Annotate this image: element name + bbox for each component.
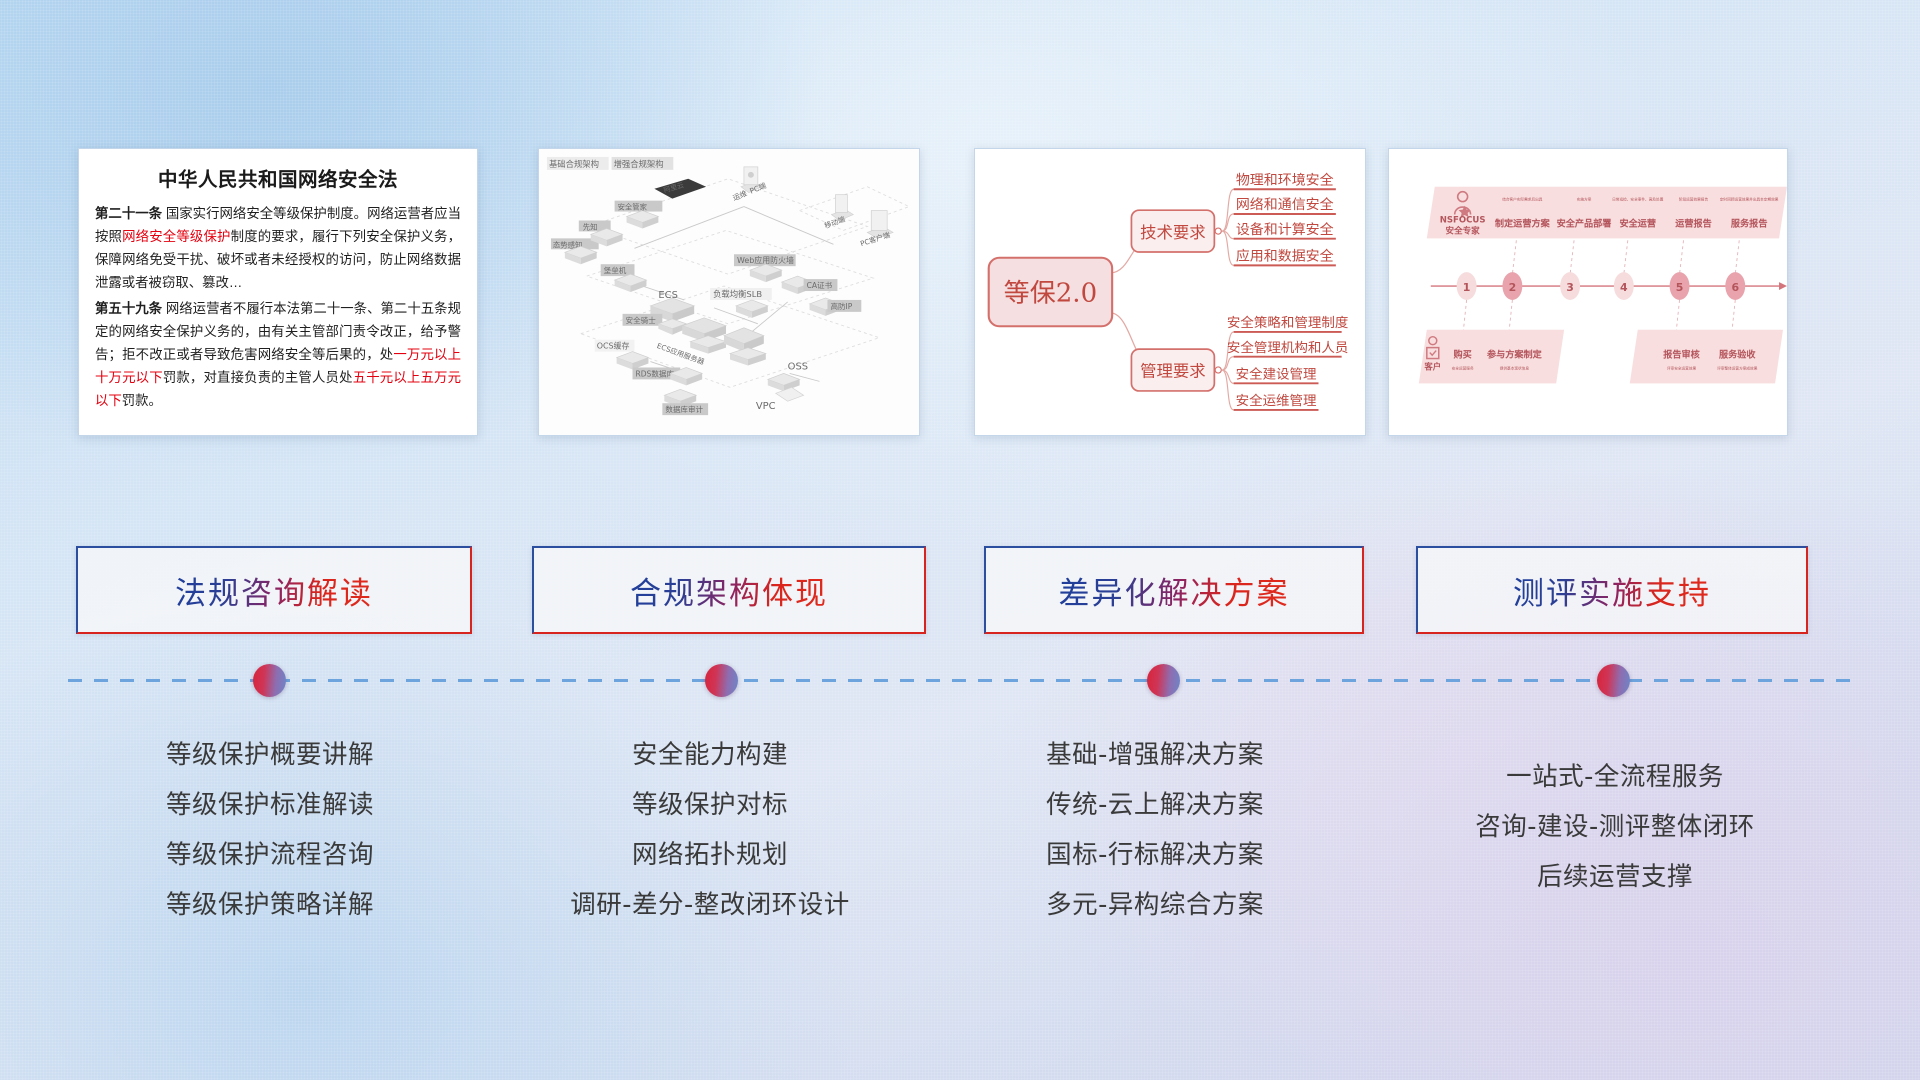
node-slb: 负载均衡SLB <box>713 289 762 299</box>
section-title-3: 差异化解决方案 <box>1059 568 1290 613</box>
node-db-audit: 数据库审计 <box>665 404 703 414</box>
bottom-step-3-name: 报告审核 <box>1663 349 1700 361</box>
list-item: 安全能力构建 <box>500 730 920 780</box>
list-item: 国标-行标解决方案 <box>945 830 1365 880</box>
mindmap-leaf-app-data: 应用和数据安全 <box>1236 248 1334 265</box>
preview-cards-row: 中华人民共和国网络安全法 第二十一条 国家实行网络安全等级保护制度。网络运营者应… <box>0 148 1920 448</box>
mindmap-root-label: 等保2.0 <box>1004 279 1097 309</box>
timeline-dot-4[interactable] <box>1597 664 1630 697</box>
card-cybersecurity-law[interactable]: 中华人民共和国网络安全法 第二十一条 国家实行网络安全等级保护制度。网络运营者应… <box>78 148 478 436</box>
list-item: 传统-云上解决方案 <box>945 780 1365 830</box>
article-59-label: 第五十九条 <box>95 301 162 316</box>
timeline-strip <box>0 650 1920 710</box>
timeline-marker-1: 1 <box>1463 281 1471 294</box>
tab-enhanced-label: 增强合规架构 <box>614 159 664 169</box>
node-vpc: VPC <box>756 401 776 412</box>
top-step-3-name: 安全运营 <box>1619 217 1656 229</box>
architecture-diagram: 基础合规架构 增强合规架构 <box>539 149 919 435</box>
bottom-step-3-caption: 评审安全运营效果 <box>1667 365 1697 370</box>
bottom-step-4-name: 服务验收 <box>1719 349 1756 361</box>
section-titles-row: 法规咨询解读 合规架构体现 差异化解决方案 测评实施支持 <box>0 546 1920 642</box>
top-step-4-caption: 阶段运营效果报告 <box>1679 197 1709 202</box>
nsfocus-timeline-diagram: NSFOCUS 安全专家 结合客户实际需求后出具 实施方案 日常巡检、安全事件、… <box>1389 149 1787 435</box>
bottom-step-2-caption: 提供基本现状信息 <box>1500 365 1530 370</box>
section-items-2: 安全能力构建 等级保护对标 网络拓扑规划 调研-差分-整改闭环设计 <box>500 730 920 930</box>
article-59-body-3: 罚款。 <box>122 393 162 408</box>
slide-root: 中华人民共和国网络安全法 第二十一条 国家实行网络安全等级保护制度。网络运营者应… <box>0 0 1920 1080</box>
node-oss: OSS <box>788 361 808 372</box>
node-bastion-host: 堡垒机 <box>604 265 627 275</box>
article-21-highlight: 网络安全等级保护 <box>122 229 231 244</box>
law-article-59: 第五十九条 网络运营者不履行本法第二十一条、第二十五条规定的网络安全保护义务的，… <box>95 297 461 412</box>
node-ca-cert: CA证书 <box>807 280 833 290</box>
mindmap-collapse-toggle-technical[interactable] <box>1215 228 1221 234</box>
timeline-dashed-line <box>68 679 1852 682</box>
top-step-3-caption: 日常巡检、安全事件、高危处置 <box>1612 197 1664 202</box>
list-item: 等级保护对标 <box>500 780 920 830</box>
node-security-knight: 安全骑士 <box>626 315 657 325</box>
timeline-dot-3[interactable] <box>1147 664 1180 697</box>
list-item: 调研-差分-整改闭环设计 <box>500 880 920 930</box>
timeline-marker-6: 6 <box>1731 281 1739 294</box>
node-waf: Web应用防火墙 <box>737 255 794 265</box>
bottom-step-4-caption: 评审整体运营方案成效果 <box>1717 365 1758 370</box>
law-document: 中华人民共和国网络安全法 第二十一条 国家实行网络安全等级保护制度。网络运营者应… <box>79 149 477 420</box>
timeline-marker-2: 2 <box>1509 281 1517 294</box>
mindmap-leaf-device-compute: 设备和计算安全 <box>1236 221 1334 238</box>
law-title: 中华人民共和国网络安全法 <box>95 163 461 192</box>
section-title-box-4[interactable]: 测评实施支持 <box>1416 546 1808 634</box>
bottom-step-2-name: 参与方案制定 <box>1487 349 1543 361</box>
list-item: 等级保护概要讲解 <box>60 730 480 780</box>
section-title-1: 法规咨询解读 <box>175 568 373 613</box>
node-ocs-cache: OCS缓存 <box>597 341 630 351</box>
article-59-body-2: 罚款，对直接负责的主管人员处 <box>163 370 353 385</box>
top-step-2-caption: 实施方案 <box>1577 197 1592 202</box>
timeline-dot-2[interactable] <box>705 664 738 697</box>
node-xianzhi: 先知 <box>583 222 598 231</box>
card-nsfocus-service-flow[interactable]: NSFOCUS 安全专家 结合客户实际需求后出具 实施方案 日常巡检、安全事件、… <box>1388 148 1788 436</box>
section-title-4: 测评实施支持 <box>1513 568 1711 613</box>
top-step-1-name: 制定运营方案 <box>1495 217 1551 229</box>
list-item: 网络拓扑规划 <box>500 830 920 880</box>
top-step-2-name: 安全产品部署 <box>1557 217 1612 229</box>
timeline-marker-4: 4 <box>1620 281 1628 294</box>
top-step-5-caption: 定时回顾运营效果并出具本定期效果 <box>1720 197 1779 202</box>
list-item: 咨询-建设-测评整体闭环 <box>1400 802 1830 852</box>
section-title-box-2[interactable]: 合规架构体现 <box>532 546 926 634</box>
timeline-dot-1[interactable] <box>253 664 286 697</box>
tab-basic-label: 基础合规架构 <box>549 159 599 169</box>
section-title-box-3[interactable]: 差异化解决方案 <box>984 546 1364 634</box>
node-security-steward: 安全管家 <box>618 203 648 212</box>
timeline-marker-5: 5 <box>1676 281 1684 294</box>
top-step-5-name: 服务报告 <box>1731 217 1768 229</box>
mindmap-branch-technical-label: 技术要求 <box>1140 223 1205 242</box>
bottom-step-1-name: 购买 <box>1453 349 1471 361</box>
list-item: 一站式-全流程服务 <box>1400 752 1830 802</box>
timeline-marker-3: 3 <box>1566 281 1574 294</box>
customer-label: 客户 <box>1423 361 1441 371</box>
bottom-step-1-caption: 安全运营服务 <box>1452 365 1474 370</box>
expert-band <box>1427 187 1787 239</box>
section-items-4: 一站式-全流程服务 咨询-建设-测评整体闭环 后续运营支撑 <box>1400 752 1830 902</box>
expert-label-role: 安全专家 <box>1446 224 1481 236</box>
mindmap-collapse-toggle-management[interactable] <box>1215 367 1221 373</box>
list-item: 后续运营支撑 <box>1400 852 1830 902</box>
law-article-21: 第二十一条 国家实行网络安全等级保护制度。网络运营者应当按照网络安全等级保护制度… <box>95 202 461 294</box>
card-cloud-architecture[interactable]: 基础合规架构 增强合规架构 <box>538 148 920 436</box>
node-rds: RDS数据库 <box>635 368 674 378</box>
mindmap-leaf-security-org: 安全管理机构和人员 <box>1227 339 1348 356</box>
mindmap-leaf-network-comm: 网络和通信安全 <box>1236 196 1334 213</box>
list-item: 等级保护标准解读 <box>60 780 480 830</box>
top-step-4-name: 运营报告 <box>1675 217 1712 229</box>
mindmap-leaf-physical-env: 物理和环境安全 <box>1236 172 1334 189</box>
list-item: 等级保护流程咨询 <box>60 830 480 880</box>
section-items-3: 基础-增强解决方案 传统-云上解决方案 国标-行标解决方案 多元-异构综合方案 <box>945 730 1365 930</box>
top-step-1-caption: 结合客户实际需求后出具 <box>1502 197 1543 202</box>
list-item: 等级保护策略详解 <box>60 880 480 930</box>
mindmap-diagram: 等保2.0 技术要求 <box>975 149 1365 435</box>
mindmap-branch-management-label: 管理要求 <box>1140 362 1205 381</box>
expert-label-brand: NSFOCUS <box>1440 215 1486 225</box>
card-mindmap-dengbao[interactable]: 等保2.0 技术要求 <box>974 148 1366 436</box>
section-items-row: 等级保护概要讲解 等级保护标准解读 等级保护流程咨询 等级保护策略详解 安全能力… <box>0 730 1920 1040</box>
section-title-box-1[interactable]: 法规咨询解读 <box>76 546 472 634</box>
section-title-2: 合规架构体现 <box>630 568 828 613</box>
customer-band-right <box>1630 330 1783 384</box>
mindmap-leaf-security-build: 安全建设管理 <box>1236 366 1317 383</box>
list-item: 多元-异构综合方案 <box>945 880 1365 930</box>
mindmap-leaf-security-ops: 安全运维管理 <box>1236 392 1317 409</box>
article-21-label: 第二十一条 <box>95 206 162 221</box>
mindmap-leaf-security-policy: 安全策略和管理制度 <box>1227 314 1348 331</box>
list-item: 基础-增强解决方案 <box>945 730 1365 780</box>
node-anti-ddos-ip: 高防IP <box>830 301 852 311</box>
section-items-1: 等级保护概要讲解 等级保护标准解读 等级保护流程咨询 等级保护策略详解 <box>60 730 480 930</box>
